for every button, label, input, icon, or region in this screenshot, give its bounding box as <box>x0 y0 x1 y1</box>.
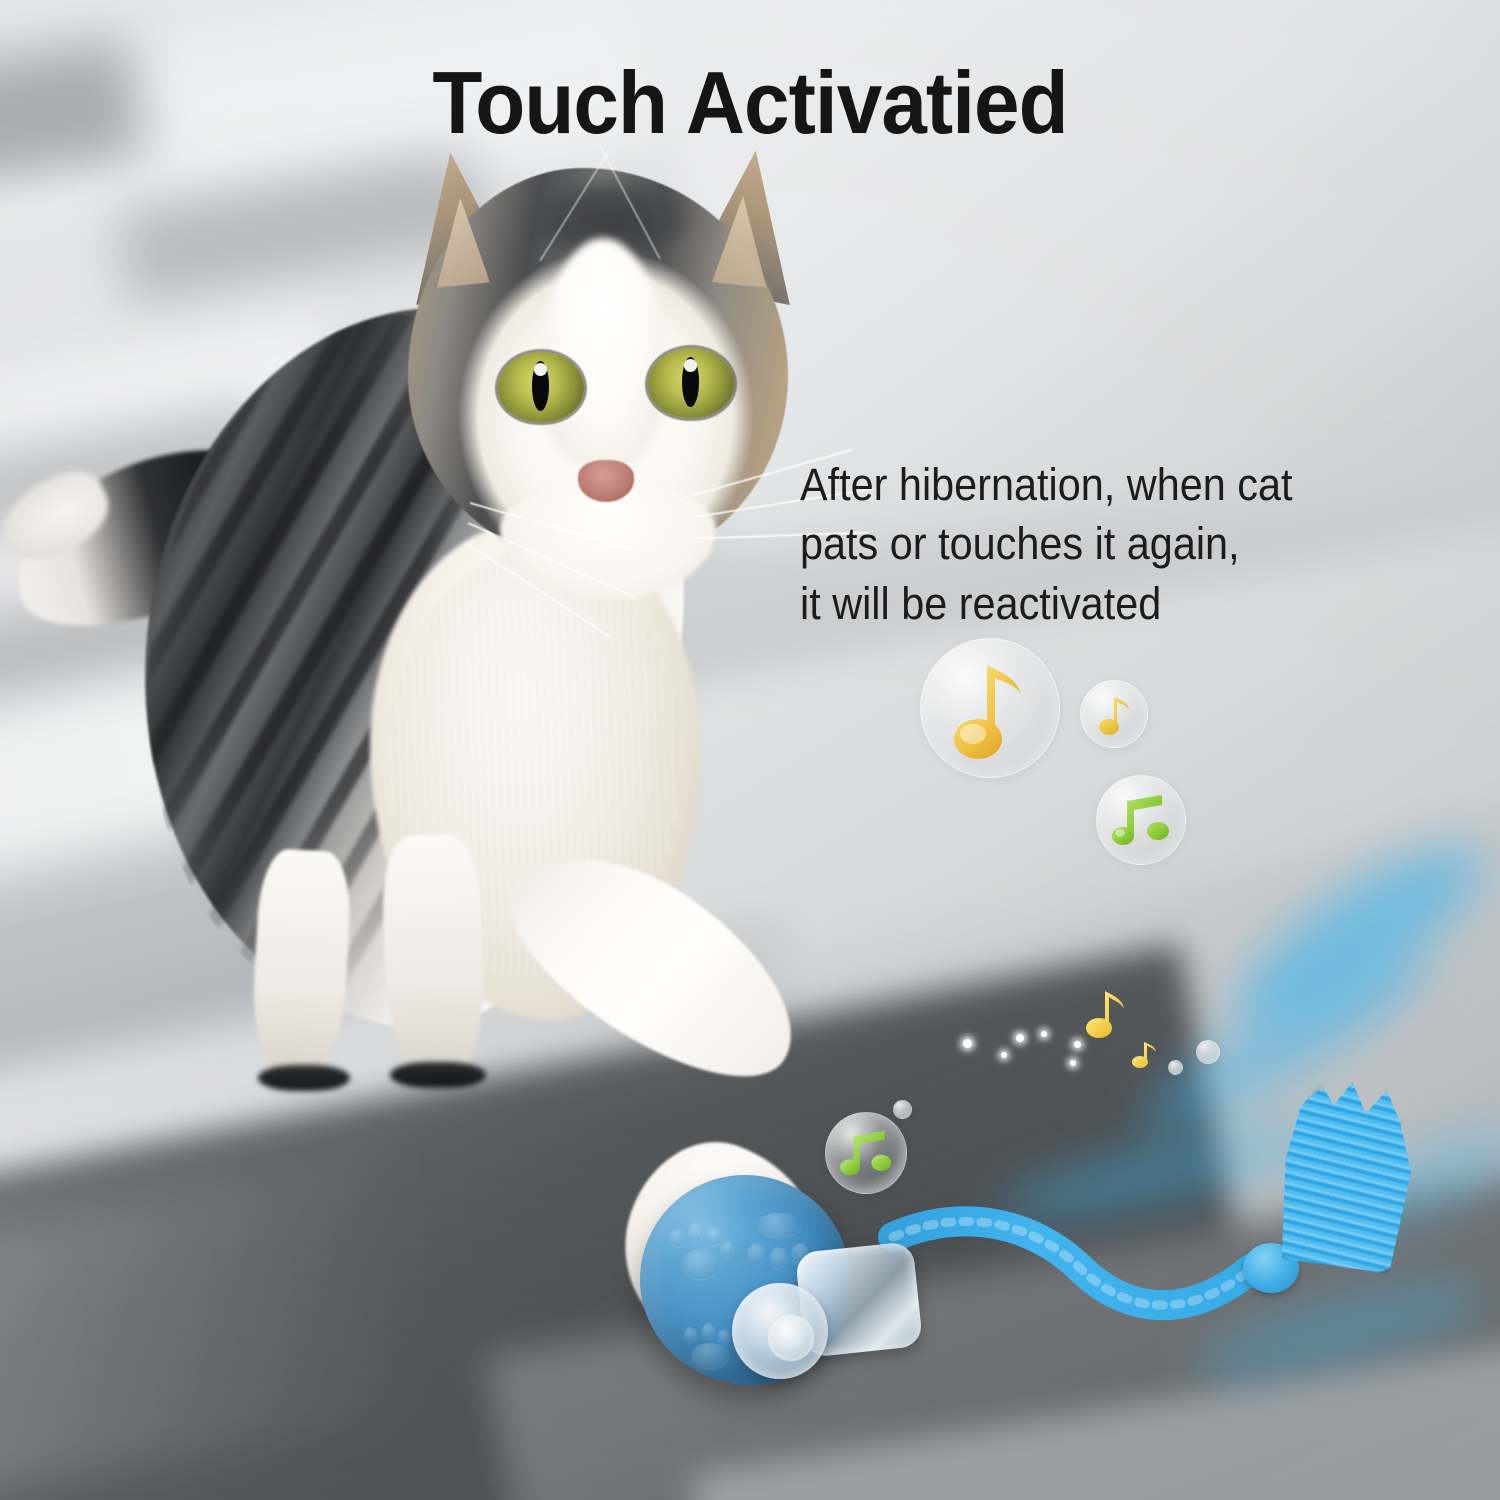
description-block: After hibernation, when cat pats or touc… <box>800 455 1407 633</box>
music-bubble-green <box>1096 775 1186 865</box>
music-bubble-mini <box>893 1100 912 1119</box>
toy-ball <box>640 1175 900 1405</box>
music-bubble-toy <box>825 1112 907 1194</box>
music-bubble-large <box>920 638 1060 778</box>
music-bubble-small <box>1080 680 1148 748</box>
product-image-canvas: Touch Activatied After hibernation, when… <box>0 0 1500 1500</box>
music-note-beamed-icon <box>840 1127 892 1179</box>
floating-music-note-gold-small <box>1132 1038 1158 1075</box>
sparkle-dot <box>1070 1060 1076 1066</box>
music-note-beamed-icon <box>1112 791 1170 849</box>
sparkle-dot <box>963 1039 972 1048</box>
page-title: Touch Activatied <box>53 52 1448 154</box>
toy-clip-screw <box>768 1315 814 1361</box>
paw-print-emboss <box>668 1227 734 1289</box>
sparkle-dot <box>1001 1052 1007 1058</box>
description-line-2: pats or touches it again, <box>800 514 1407 573</box>
music-note-icon <box>1097 692 1131 736</box>
music-note-icon <box>947 655 1033 761</box>
sparkle-dot <box>1041 1031 1047 1037</box>
description-line-3: it will be reactivated <box>800 574 1407 633</box>
floating-music-note-gold <box>1085 985 1127 1046</box>
music-bubble-mini <box>1168 1060 1183 1075</box>
sparkle-dot <box>1016 1034 1024 1042</box>
description-line-1: After hibernation, when cat <box>800 455 1407 514</box>
music-bubble-mini <box>1196 1040 1220 1064</box>
sparkle-dot <box>1074 1041 1081 1048</box>
